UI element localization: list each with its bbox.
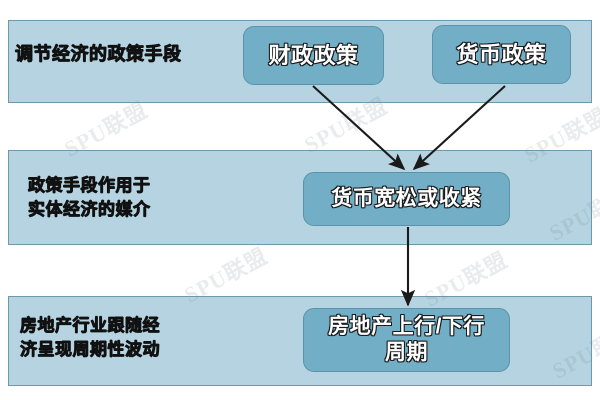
node-label-monetary-easing-tightening: 货币宽松或收紧 xyxy=(331,186,482,212)
band-label-policy-tools: 调节经济的政策手段 xyxy=(15,42,182,68)
node-monetary-policy[interactable]: 货币政策 xyxy=(432,25,571,84)
band-label-transmission-medium: 政策手段作用于 实体经济的媒介 xyxy=(28,174,151,222)
band-label-real-estate-cycle: 房地产行业跟随经 济呈现周期性波动 xyxy=(20,314,160,362)
node-real-estate-up-down-cycle[interactable]: 房地产上行/下行 周期 xyxy=(303,308,510,372)
diagram-canvas: SPU联盟 SPU联盟 SPU联盟 SPU联盟 SPU联盟 SPU联盟 SPU联… xyxy=(0,0,600,400)
node-fiscal-policy[interactable]: 财政政策 xyxy=(243,26,384,85)
node-label-fiscal-policy: 财政政策 xyxy=(268,42,358,70)
node-label-monetary-policy: 货币政策 xyxy=(456,41,546,69)
node-label-real-estate-up-down-cycle: 房地产上行/下行 周期 xyxy=(328,314,485,367)
node-monetary-easing-tightening[interactable]: 货币宽松或收紧 xyxy=(303,172,510,226)
